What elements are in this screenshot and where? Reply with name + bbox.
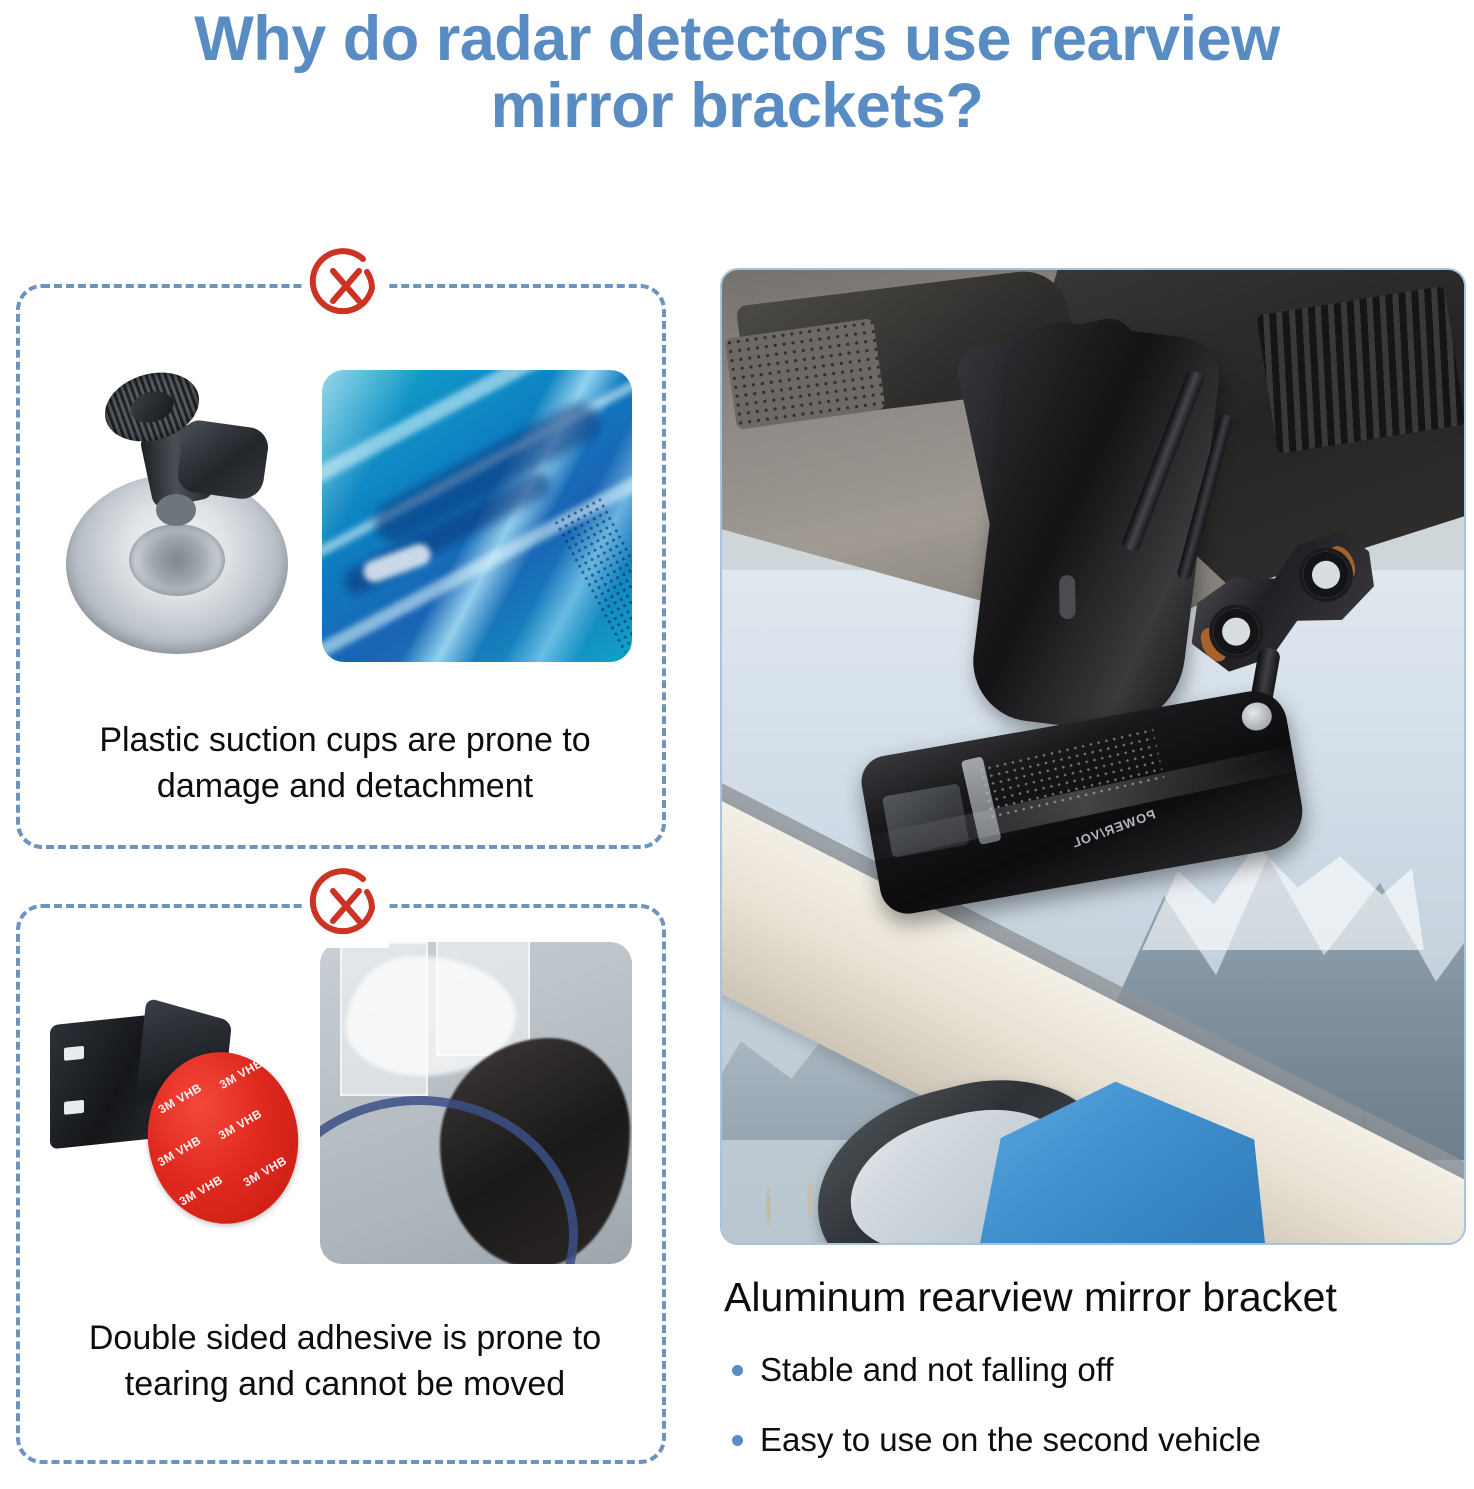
- x-circle-icon: [303, 242, 389, 328]
- solution-bullet-list: Stable and not falling off Easy to use o…: [726, 1350, 1446, 1489]
- x-circle-icon: [303, 862, 389, 948]
- vhb-text: 3M VHB: [241, 1153, 289, 1189]
- window-pane-reflection: [340, 942, 428, 1096]
- solution-heading: Aluminum rearview mirror bracket: [724, 1274, 1464, 1321]
- drawbacks-column: Plastic suction cups are prone to damage…: [8, 236, 678, 1468]
- bullet-dot-icon: [732, 1365, 743, 1376]
- vhb-text: 3M VHB: [155, 1133, 203, 1169]
- drawback-card-suction-cup: Plastic suction cups are prone to damage…: [16, 284, 666, 849]
- card-1-caption: Plastic suction cups are prone to damage…: [38, 718, 652, 810]
- page-title: Why do radar detectors use rearview mirr…: [0, 4, 1474, 141]
- aluminum-bracket-installed-photo: POWER/VOL: [720, 268, 1466, 1245]
- plastic-suction-cup-photo: [42, 366, 310, 666]
- vhb-text: 3M VHB: [217, 1056, 265, 1092]
- drawback-card-adhesive: 3M VHB 3M VHB 3M VHB 3M VHB 3M VHB 3M VH…: [16, 904, 666, 1464]
- damaged-suction-cup-photo: [322, 370, 632, 662]
- list-item: Stable and not falling off: [726, 1350, 1446, 1390]
- page-title-line-1: Why do radar detectors use rearview: [0, 4, 1474, 75]
- bullet-label: Easy to use on the second vehicle: [760, 1421, 1261, 1458]
- list-item: Easy to use on the second vehicle: [726, 1420, 1446, 1460]
- suction-cup-center-ring: [156, 494, 196, 526]
- vhb-text: 3M VHB: [216, 1106, 264, 1142]
- window-pane-reflection: [436, 942, 530, 1056]
- vhb-text: 3M VHB: [156, 1081, 204, 1117]
- page-title-line-2: mirror brackets?: [0, 71, 1474, 142]
- vhb-text: 3M VHB: [177, 1173, 225, 1209]
- card-2-caption: Double sided adhesive is prone to tearin…: [38, 1316, 652, 1408]
- speaker-grille-texture: [552, 496, 632, 654]
- detector-mount-knob: [1240, 700, 1274, 733]
- roof-vent-grille: [1256, 286, 1466, 454]
- suction-cup-ball-joint: [175, 418, 270, 501]
- detached-adhesive-photo: [320, 942, 632, 1264]
- bullet-dot-icon: [732, 1435, 743, 1446]
- bullet-label: Stable and not falling off: [760, 1351, 1114, 1388]
- adhesive-bracket-photo: 3M VHB 3M VHB 3M VHB 3M VHB 3M VHB 3M VH…: [44, 968, 310, 1268]
- solution-column: POWER/VOL Aluminum rearview mirror brack…: [706, 268, 1466, 1473]
